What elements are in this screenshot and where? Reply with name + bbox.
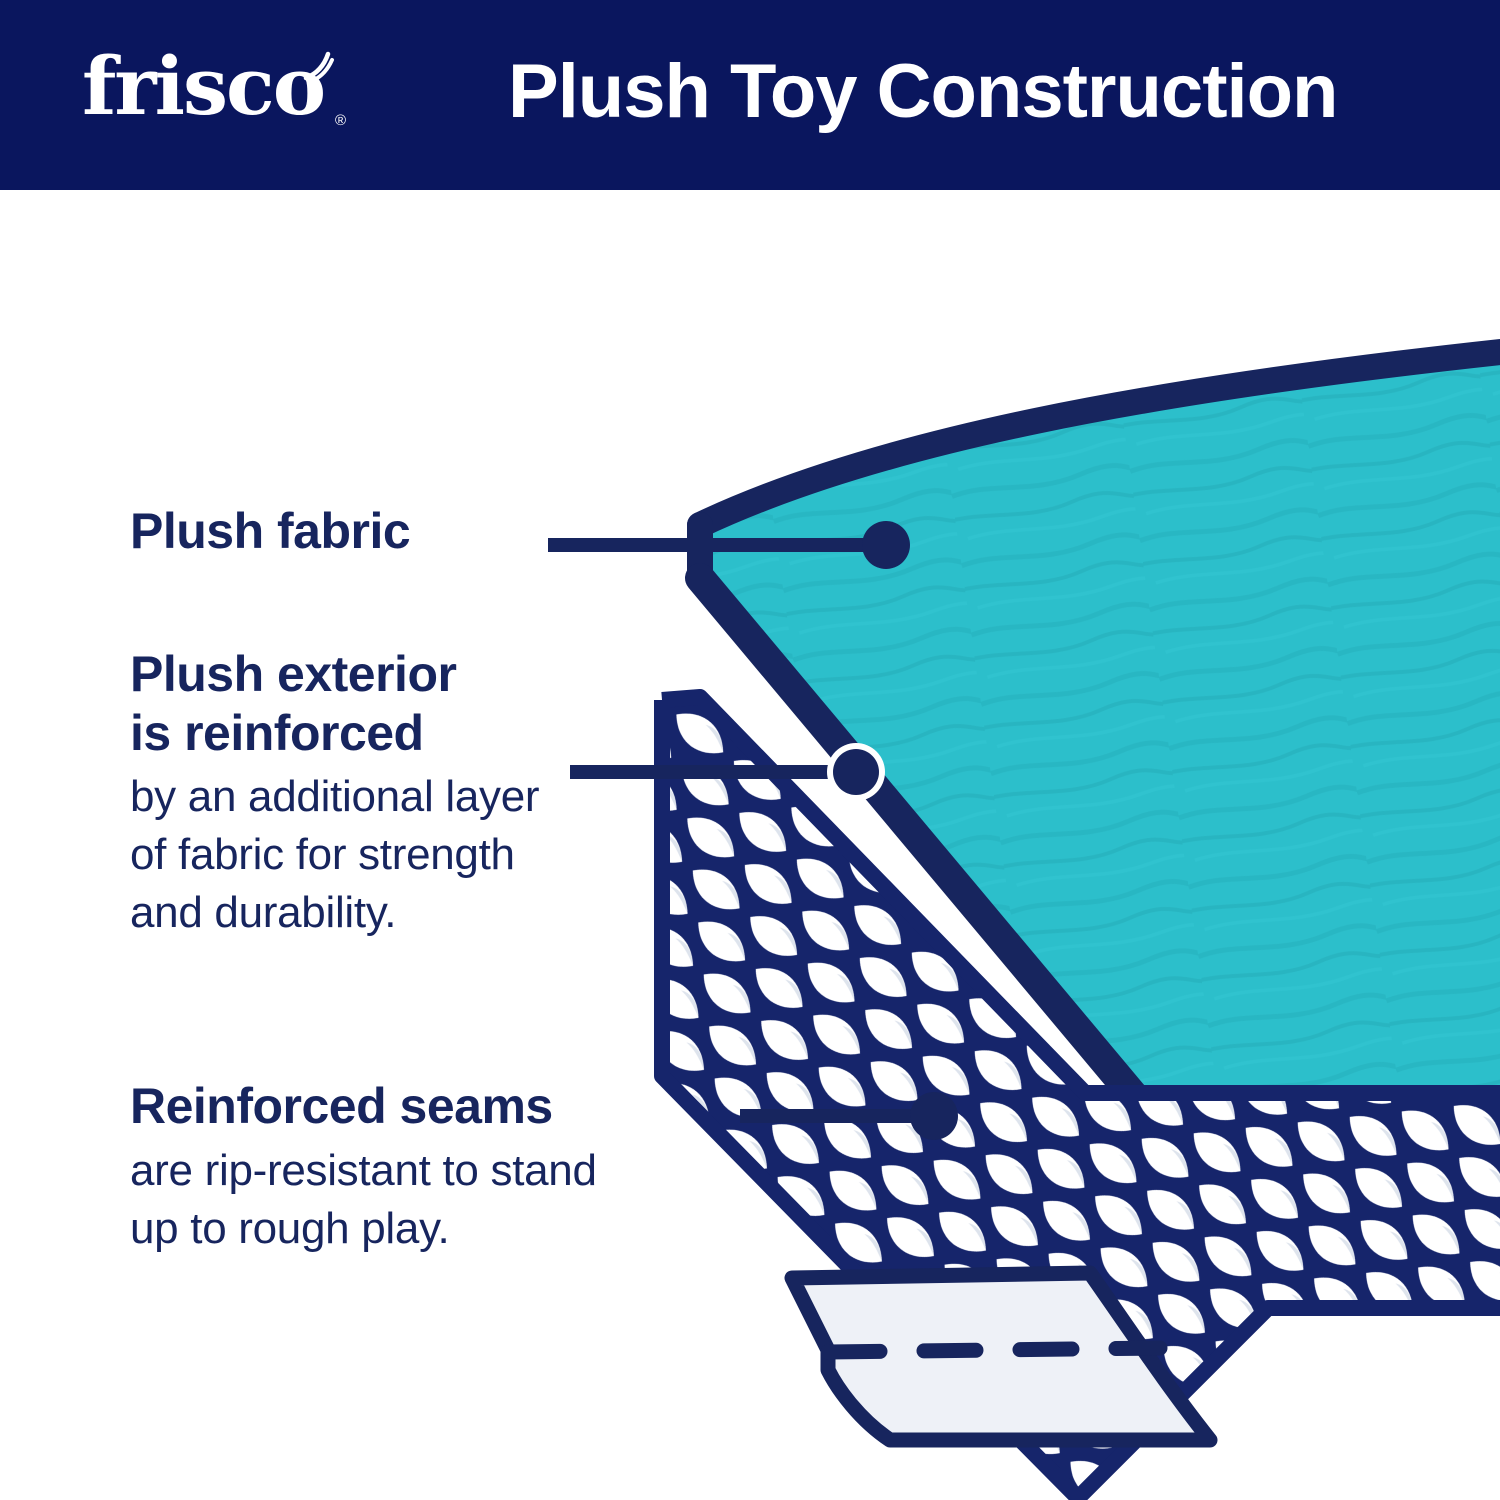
callout-plush-fabric: Plush fabric bbox=[130, 502, 410, 561]
callout-heading: Plush fabric bbox=[130, 502, 410, 561]
leader-marker-plush-fabric bbox=[862, 521, 910, 569]
callout-body-line-2: up to rough play. bbox=[130, 1200, 597, 1258]
callout-heading-line-2: is reinforced bbox=[130, 704, 539, 763]
callout-body-line-2: of fabric for strength bbox=[130, 826, 539, 884]
registered-mark: ® bbox=[335, 113, 344, 128]
brand-wordmark: frisco bbox=[82, 39, 324, 133]
leader-marker-plush-exterior bbox=[833, 749, 879, 795]
callout-body-line-1: are rip-resistant to stand bbox=[130, 1142, 597, 1200]
callout-heading: Reinforced seams bbox=[130, 1077, 597, 1136]
page-title: Plush Toy Construction bbox=[508, 48, 1337, 135]
leader-marker-reinforced-seams bbox=[910, 1092, 958, 1140]
frisco-logo: frisco ® bbox=[82, 46, 324, 126]
callout-body-line-3: and durability. bbox=[130, 884, 539, 942]
page-header: frisco ® Plush Toy Construction bbox=[0, 0, 1500, 190]
callout-reinforced-seams: Reinforced seams are rip-resistant to st… bbox=[130, 1077, 597, 1258]
callout-heading-line-1: Plush exterior bbox=[130, 645, 539, 704]
logo-swoosh-icon bbox=[302, 50, 336, 84]
callout-plush-exterior: Plush exterior is reinforced by an addit… bbox=[130, 645, 539, 942]
callout-body-line-1: by an additional layer bbox=[130, 768, 539, 826]
